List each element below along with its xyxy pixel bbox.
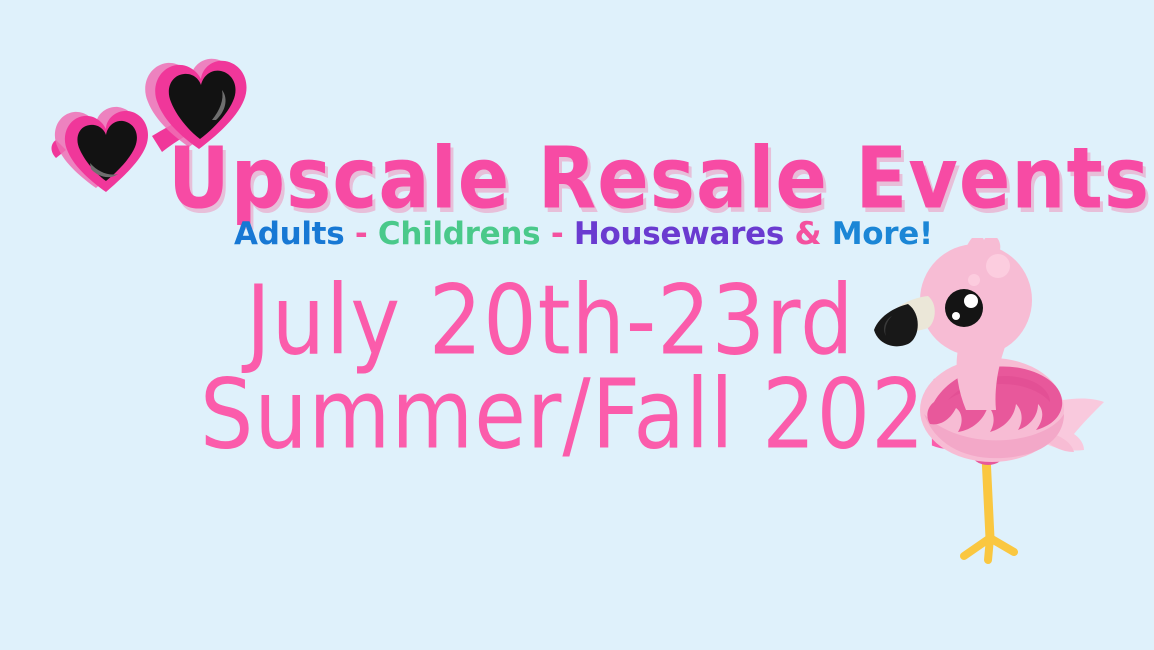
event-dates: July 20th-23rd (246, 272, 854, 369)
subtitle-childrens: Childrens (378, 216, 540, 252)
subtitle-dash-one: - (344, 216, 378, 252)
category-subtitle: Adults - Childrens - Housewares & More! (234, 219, 933, 250)
subtitle-housewares: Housewares (574, 216, 784, 252)
subtitle-adults: Adults (234, 216, 344, 252)
page-title: Upscale Resale Events (168, 136, 1008, 221)
subtitle-dash-two: - (540, 216, 574, 252)
promo-banner: Upscale Resale Events Adults - Childrens… (0, 0, 1154, 650)
heart-sunglasses-icon (48, 40, 278, 205)
subtitle-ampersand: & (784, 216, 832, 252)
flamingo-icon (868, 238, 1118, 578)
event-season: Summer/Fall 2023 (200, 366, 980, 463)
